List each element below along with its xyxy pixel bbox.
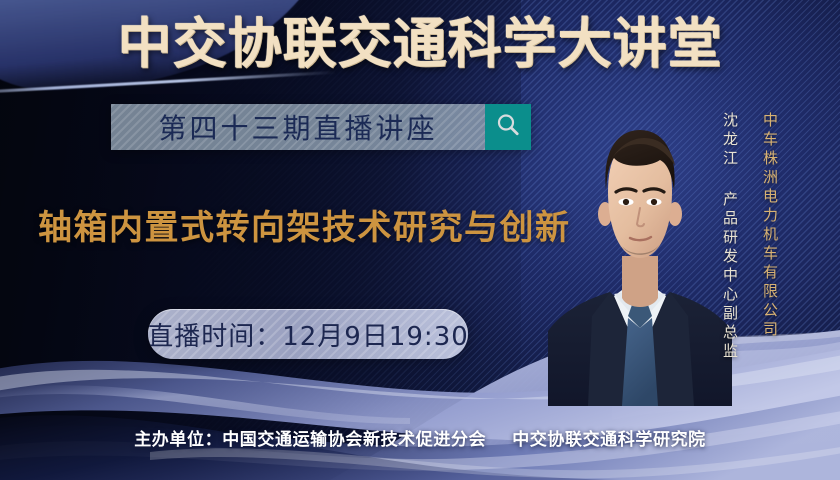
search-icon bbox=[495, 112, 521, 142]
page-title: 中交协联交通科学大讲堂 bbox=[0, 14, 840, 74]
footer-organizer-1: 中国交通运输协会新技术促进分会 bbox=[222, 430, 486, 450]
speaker-portrait bbox=[548, 106, 732, 406]
search-icon-tile[interactable] bbox=[485, 104, 531, 150]
session-subtitle-bar: 第四十三期直播讲座 bbox=[111, 104, 531, 150]
speaker-name-role: 沈龙江 产品研发中心副总监 bbox=[722, 112, 737, 362]
session-subtitle-body: 第四十三期直播讲座 bbox=[111, 104, 485, 150]
footer-organizers: 主办单位：中国交通运输协会新技术促进分会中交协联交通科学研究院 bbox=[0, 425, 840, 450]
poster-banner: 中交协联交通科学大讲堂 第四十三期直播讲座 轴箱内置式转向架技术研究与创新 直播… bbox=[0, 0, 840, 480]
footer-prefix: 主办单位： bbox=[134, 430, 222, 450]
session-subtitle-label: 第四十三期直播讲座 bbox=[158, 107, 437, 147]
live-time-pill: 直播时间：12月9日19:30 bbox=[148, 309, 468, 359]
footer-organizer-2: 中交协联交通科学研究院 bbox=[512, 430, 706, 450]
speaker-company: 中车株洲电力机车有限公司 bbox=[762, 112, 777, 340]
lecture-topic: 轴箱内置式转向架技术研究与创新 bbox=[38, 200, 571, 249]
live-time-label: 直播时间：12月9日19:30 bbox=[148, 316, 468, 353]
